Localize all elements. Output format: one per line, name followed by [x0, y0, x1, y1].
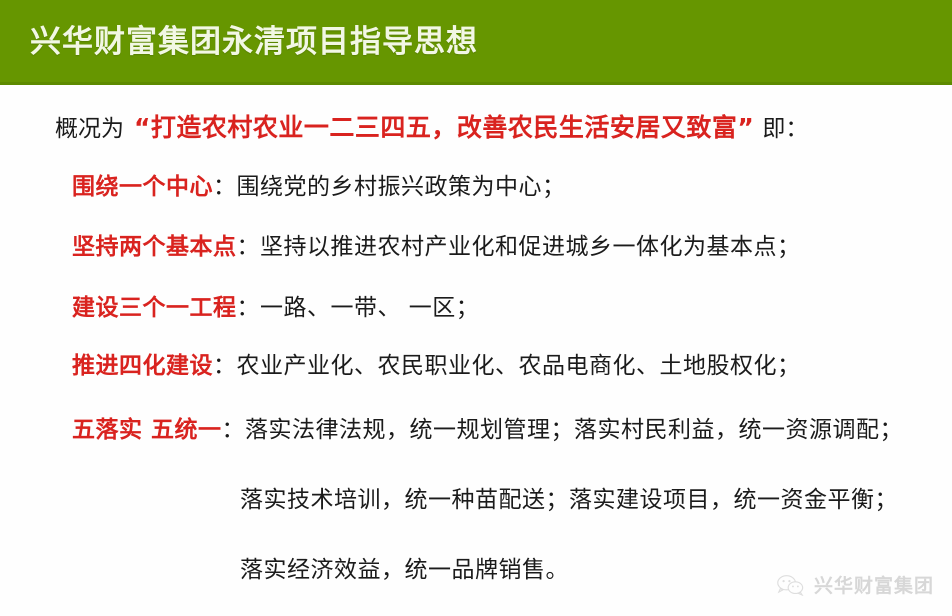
item-label: 推进四化建设: [72, 353, 213, 379]
wechat-logo-icon: [776, 574, 806, 596]
item-text: 坚持以推进农村产业化和促进城乡一体化为基本点；: [260, 234, 801, 260]
item-label: 建设三个一工程: [72, 295, 237, 321]
list-item-three-projects: 建设三个一工程：一路、一带、 一区；: [72, 293, 479, 323]
item-colon: ：: [237, 295, 261, 321]
item-colon: ：: [213, 353, 237, 379]
header-banner: 兴华财富集团永清项目指导思想: [0, 0, 952, 85]
list-item-four-modernizations: 推进四化建设：农业产业化、农民职业化、农品电商化、土地股权化；: [72, 351, 801, 381]
item-label: 五落实 五统一: [72, 417, 222, 443]
slide-content: 概况为“打造农村农业一二三四五，改善农民生活安居又致富”即： 围绕一个中心：围绕…: [0, 85, 952, 616]
item-text: 落实法律法规，统一规划管理；落实村民利益，统一资源调配；: [245, 417, 903, 443]
watermark-text: 兴华财富集团: [814, 571, 934, 598]
item-text: 一路、一带、 一区；: [260, 295, 479, 321]
item-colon: ：: [237, 234, 261, 260]
item-text: 农业产业化、农民职业化、农品电商化、土地股权化；: [237, 353, 801, 379]
continuation-line-2: 落实经济效益，统一品牌销售。: [240, 555, 569, 585]
list-item-five-implementations: 五落实 五统一：落实法律法规，统一规划管理；落实村民利益，统一资源调配；: [72, 415, 903, 445]
item-label: 围绕一个中心: [72, 174, 213, 200]
summary-lead: 概况为: [55, 116, 124, 142]
watermark: 兴华财富集团: [776, 571, 934, 598]
item-colon: ：: [213, 174, 237, 200]
page-title: 兴华财富集团永清项目指导思想: [30, 22, 478, 62]
item-colon: ：: [222, 417, 246, 443]
summary-quote: “打造农村农业一二三四五，改善农民生活安居又致富”: [134, 113, 754, 142]
item-text: 围绕党的乡村振兴政策为中心；: [237, 174, 566, 200]
summary-line: 概况为“打造农村农业一二三四五，改善农民生活安居又致富”即：: [55, 113, 808, 144]
continuation-line-1: 落实技术培训，统一种苗配送；落实建设项目，统一资金平衡；: [240, 485, 898, 515]
slide-canvas: 兴华财富集团永清项目指导思想 概况为“打造农村农业一二三四五，改善农民生活安居又…: [0, 0, 952, 616]
item-label: 坚持两个基本点: [72, 234, 237, 260]
list-item-one-center: 围绕一个中心：围绕党的乡村振兴政策为中心；: [72, 172, 566, 202]
list-item-two-basics: 坚持两个基本点：坚持以推进农村产业化和促进城乡一体化为基本点；: [72, 232, 801, 262]
summary-tail: 即：: [762, 116, 808, 142]
